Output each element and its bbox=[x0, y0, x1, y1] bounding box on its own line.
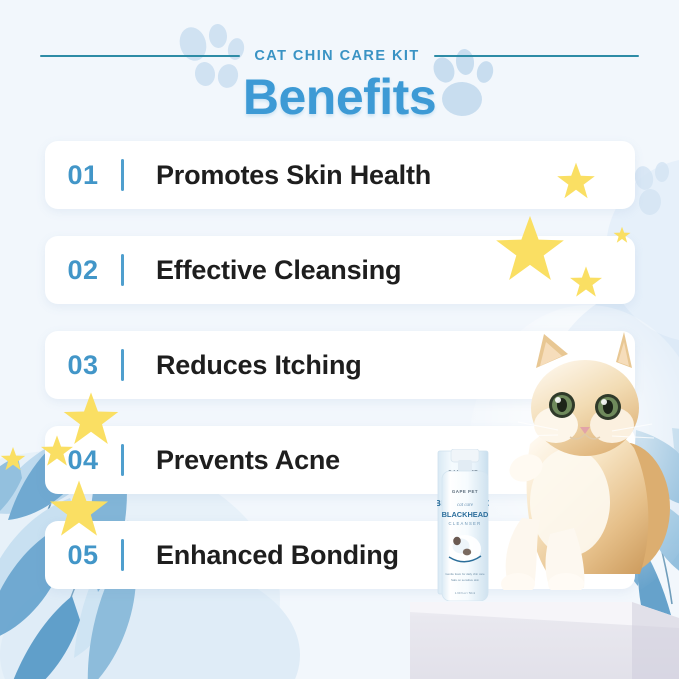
benefit-separator bbox=[121, 539, 124, 571]
kicker-text: CAT CHIN CARE KIT bbox=[254, 48, 419, 64]
star-icon-large-right bbox=[494, 213, 566, 285]
star-icon-right-top bbox=[556, 161, 596, 201]
star-icon-left-edge bbox=[0, 446, 26, 472]
header: CAT CHIN CARE KIT Benefits bbox=[0, 0, 679, 130]
poster-canvas: CAT CHIN CARE KIT Benefits bbox=[0, 0, 679, 679]
benefit-number-02: 02 bbox=[45, 255, 121, 286]
benefit-number-03: 03 bbox=[45, 350, 121, 381]
star-icon-tiny-right bbox=[613, 226, 631, 244]
svg-text:cat care: cat care bbox=[457, 503, 474, 508]
svg-text:GAPE PET: GAPE PET bbox=[452, 489, 478, 494]
star-icon-right-bottom bbox=[569, 265, 603, 299]
benefit-separator bbox=[121, 254, 124, 286]
benefit-label-04: Prevents Acne bbox=[156, 445, 340, 476]
divider-line-left bbox=[40, 55, 240, 58]
svg-text:1.69 fl.oz / 50ml: 1.69 fl.oz / 50ml bbox=[455, 591, 476, 595]
paw-print-icon-side bbox=[632, 162, 669, 216]
benefit-label-02: Effective Cleansing bbox=[156, 255, 401, 286]
benefit-number-05: 05 bbox=[45, 540, 121, 571]
benefit-label-05: Enhanced Bonding bbox=[156, 540, 399, 571]
product-pedestal bbox=[410, 588, 679, 679]
benefit-card-01[interactable]: 01 Promotes Skin Health bbox=[45, 141, 635, 209]
svg-text:BLACKHEAD: BLACKHEAD bbox=[442, 510, 489, 519]
kicker-row: CAT CHIN CARE KIT bbox=[0, 46, 679, 66]
svg-text:CLEANSER: CLEANSER bbox=[449, 521, 482, 526]
benefit-separator bbox=[121, 444, 124, 476]
cat-photo bbox=[500, 322, 679, 590]
star-icon-left-mid bbox=[40, 434, 74, 468]
product-bottle: GAPE PET cat care BLACKHEAD CLEANSER Gen… bbox=[432, 449, 498, 601]
benefit-number-01: 01 bbox=[45, 160, 121, 191]
benefit-separator bbox=[121, 349, 124, 381]
star-icon-left-lower bbox=[48, 478, 110, 540]
page-title: Benefits bbox=[0, 68, 679, 126]
divider-line-right bbox=[434, 55, 639, 58]
svg-text:Safe on sensitive skin: Safe on sensitive skin bbox=[451, 578, 479, 582]
svg-text:Gentle foam for daily chin car: Gentle foam for daily chin care bbox=[445, 572, 485, 576]
benefit-label-01: Promotes Skin Health bbox=[156, 160, 431, 191]
benefit-separator bbox=[121, 159, 124, 191]
benefit-label-03: Reduces Itching bbox=[156, 350, 362, 381]
